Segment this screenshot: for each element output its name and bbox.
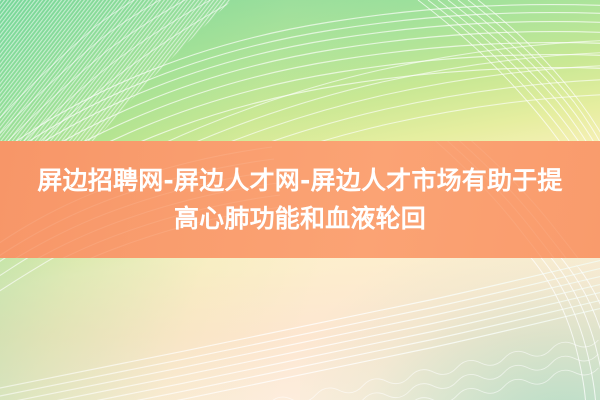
- promo-banner: 屏边招聘网-屏边人才网-屏边人才市场有助于提 高心肺功能和血液轮回: [0, 0, 600, 400]
- page-title: 屏边招聘网-屏边人才网-屏边人才市场有助于提 高心肺功能和血液轮回: [26, 162, 574, 238]
- background-corner-accent: [300, 240, 600, 400]
- headline-band: 屏边招聘网-屏边人才网-屏边人才市场有助于提 高心肺功能和血液轮回: [0, 141, 600, 258]
